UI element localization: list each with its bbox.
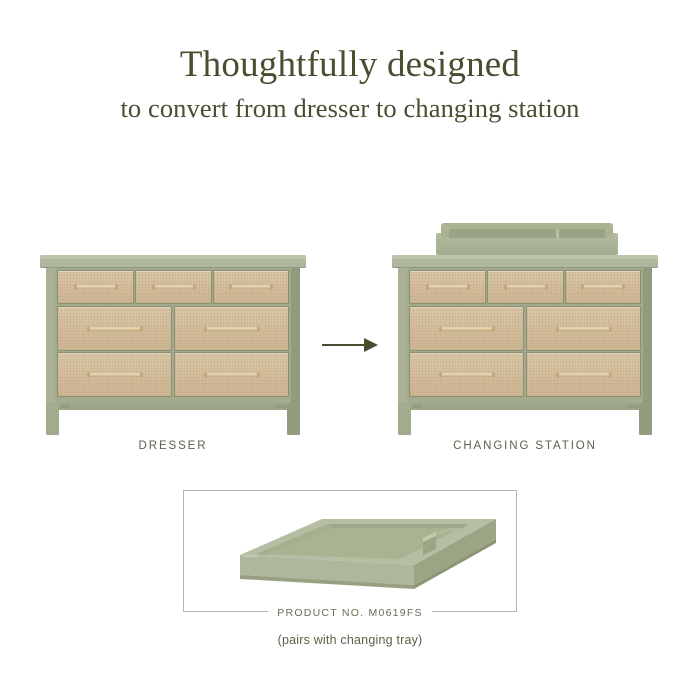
changing-station-leg-left (398, 403, 411, 435)
dresser-top-surface (40, 255, 306, 268)
drawer-pull-icon (441, 373, 493, 376)
changing-station-leg-right (639, 403, 652, 435)
changing-station-left-panel (398, 266, 407, 403)
drawer-top-right (565, 270, 641, 304)
drawer-pull-icon (231, 286, 271, 289)
drawer-pull-icon (89, 373, 141, 376)
changing-station-notch-left (412, 405, 422, 408)
headline-secondary: to convert from dresser to changing stat… (0, 91, 700, 125)
page-title: Thoughtfully designed to convert from dr… (0, 44, 700, 125)
drawer-pull-icon (206, 327, 258, 330)
drawer-top-left (57, 270, 134, 304)
dresser-leg-right (287, 403, 300, 435)
drawer-bottom-right (174, 352, 289, 397)
drawer-middle-left (57, 306, 172, 351)
drawer-middle-left (409, 306, 524, 351)
dresser-drawer-grid (57, 270, 289, 398)
drawer-pull-icon (558, 327, 610, 330)
drawer-pull-icon (154, 286, 194, 289)
drawer-top-left (409, 270, 486, 304)
product-number-text: PRODUCT NO. M0619FS (268, 607, 432, 619)
changing-station-notch-right (628, 405, 638, 408)
drawer-top-right (213, 270, 289, 304)
product-caption: (pairs with changing tray) (0, 633, 700, 647)
label-dresser: DRESSER (40, 440, 306, 452)
drawer-pull-icon (441, 327, 493, 330)
product-number: PRODUCT NO. M0619FS (183, 603, 517, 621)
changing-tray-well (449, 229, 605, 238)
changing-station-body (392, 255, 658, 435)
dresser-leg-left (46, 403, 59, 435)
drawer-pull-icon (506, 286, 546, 289)
changing-tray-illustration (200, 503, 500, 601)
unit-labels: DRESSER CHANGING STATION (0, 440, 700, 460)
changing-station-right-panel (643, 266, 652, 403)
drawer-top-center (135, 270, 212, 304)
drawer-pull-icon (206, 373, 258, 376)
drawer-pull-icon (428, 286, 468, 289)
changing-station-illustration (392, 205, 658, 435)
drawer-middle-right (526, 306, 641, 351)
changing-station-apron (398, 403, 652, 410)
drawer-pull-icon (583, 286, 623, 289)
drawer-top-center (487, 270, 564, 304)
drawer-pull-icon (76, 286, 116, 289)
conversion-arrow (322, 333, 382, 359)
dresser-notch-left (60, 405, 70, 408)
changing-station-top-surface (392, 255, 658, 268)
changing-tray-divider (556, 229, 559, 238)
right-arrow-icon-shaft (322, 344, 368, 346)
product-callout-box (183, 490, 517, 612)
drawer-pull-icon (558, 373, 610, 376)
right-arrow-icon-head (364, 338, 378, 352)
dresser-right-panel (291, 266, 300, 403)
drawer-bottom-left (409, 352, 524, 397)
drawer-bottom-left (57, 352, 172, 397)
label-changing-station: CHANGING STATION (392, 440, 658, 452)
dresser-body (40, 255, 306, 435)
dresser-notch-right (276, 405, 286, 408)
changing-station-drawer-grid (409, 270, 641, 398)
headline-primary: Thoughtfully designed (0, 44, 700, 87)
product-comparison-row (0, 205, 700, 435)
dresser-apron (46, 403, 300, 410)
drawer-middle-right (174, 306, 289, 351)
drawer-bottom-right (526, 352, 641, 397)
changing-tray-on-top (436, 223, 618, 255)
tray-back-wall-inner (328, 524, 468, 528)
drawer-pull-icon (89, 327, 141, 330)
dresser-left-panel (46, 266, 55, 403)
dresser-illustration (40, 205, 306, 435)
